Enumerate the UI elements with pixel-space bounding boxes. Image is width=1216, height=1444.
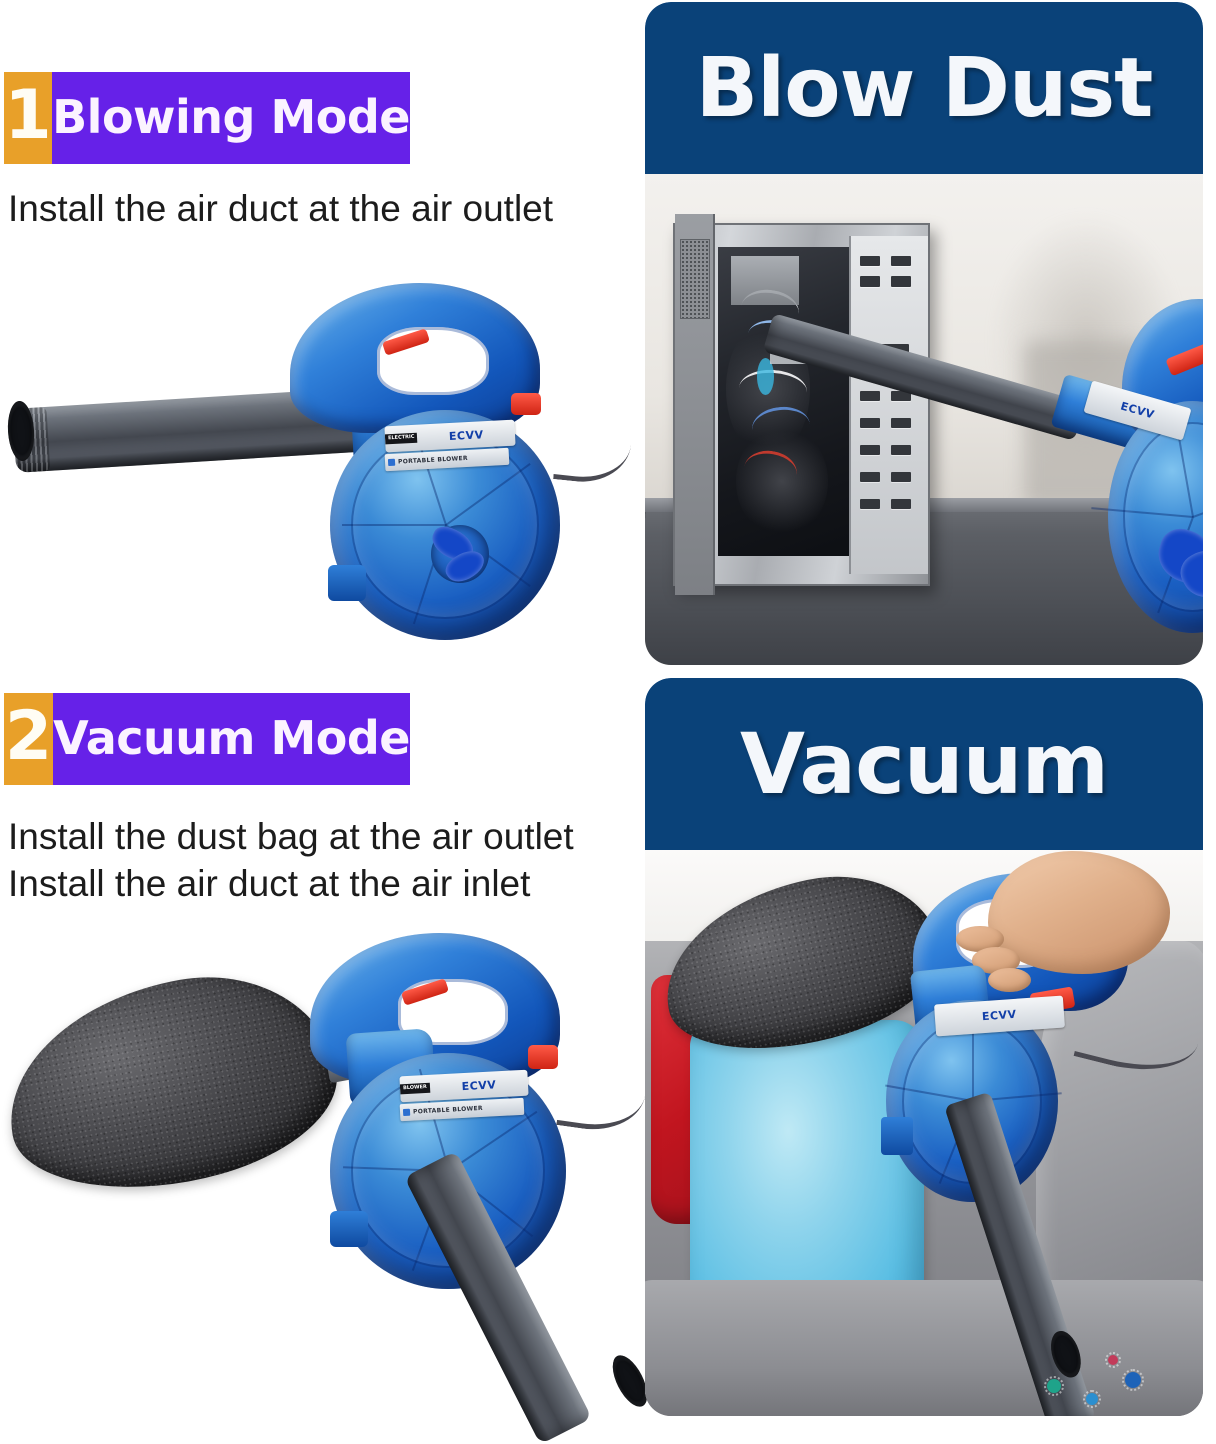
housing-foot — [881, 1117, 913, 1154]
fan-blade — [1174, 540, 1203, 605]
mode-title-badge-1: Blowing Mode — [52, 72, 410, 164]
germ-icon — [1125, 1372, 1141, 1388]
tower-vent-mesh — [680, 239, 710, 318]
blower-in-scene: ECVV — [656, 873, 1192, 1405]
expansion-slot — [860, 418, 880, 428]
mode-title-badge-2: Vacuum Mode — [53, 693, 410, 785]
banner-title: Vacuum — [740, 715, 1108, 813]
instruction-line: Install the air duct at the air inlet — [8, 860, 628, 907]
step-number-badge-1: 1 — [4, 72, 52, 164]
step-block-2: 2 Vacuum Mode Install the dust bag at th… — [0, 668, 645, 1418]
instruction-line: Install the dust bag at the air outlet — [8, 813, 628, 860]
motherboard-sticker — [731, 256, 799, 305]
housing-rib — [885, 1085, 973, 1102]
banner-vacuum: Vacuum — [645, 678, 1203, 850]
housing-rib — [1193, 481, 1203, 518]
banner-title: Blow Dust — [696, 41, 1153, 136]
label-chip-text: BLOWER — [400, 1083, 430, 1094]
germ-icon — [1086, 1393, 1098, 1405]
power-cord — [1074, 998, 1203, 1085]
power-cord — [556, 1065, 648, 1136]
brand-text: ECVV — [934, 1005, 1063, 1027]
expansion-slot — [891, 256, 911, 266]
power-cord — [553, 419, 633, 486]
photo-blow-dust-scene: ECVV — [645, 174, 1203, 665]
fan-blade — [427, 522, 479, 566]
housing-rib — [1091, 507, 1193, 518]
expansion-slot — [860, 391, 880, 401]
label-icon — [388, 459, 395, 466]
product-blower-blowing-mode: ELECTRIC ECVV PORTABLE BLOWER — [0, 275, 620, 635]
dust-bag — [0, 956, 351, 1210]
housing-rib — [342, 524, 446, 526]
label-icon — [403, 1109, 410, 1116]
housing-rib — [413, 525, 447, 625]
handle-opening — [377, 327, 489, 395]
fan-blade — [441, 543, 489, 587]
photo-vacuum-scene: ECVV — [645, 850, 1203, 1416]
step-number-badge-2: 2 — [4, 693, 53, 785]
expansion-slot — [860, 276, 880, 286]
label-chip-text: ELECTRIC — [385, 433, 418, 444]
housing-rib — [445, 463, 530, 526]
infographic-page: 1 Blowing Mode Install the air duct at t… — [0, 0, 1216, 1418]
speed-dial — [528, 1045, 558, 1069]
photo-panel-blow-dust: Blow Dust — [645, 2, 1203, 665]
blower-in-scene: ECVV — [879, 292, 1203, 655]
expansion-slot — [860, 256, 880, 266]
housing-foot — [330, 1211, 368, 1247]
speed-dial — [511, 393, 541, 415]
expansion-slot — [860, 499, 880, 509]
instructions-1: Install the air duct at the air outlet — [8, 185, 628, 232]
germ-icon — [1108, 1355, 1118, 1365]
mode-tag-1: 1 Blowing Mode — [4, 72, 410, 164]
housing-foot — [328, 565, 366, 601]
banner-blow-dust: Blow Dust — [645, 2, 1203, 174]
housing-rib — [1157, 517, 1194, 614]
instruction-line: Install the air duct at the air outlet — [8, 185, 628, 232]
fan-blade — [1152, 523, 1203, 589]
expansion-slot — [891, 276, 911, 286]
expansion-slot — [860, 472, 880, 482]
photo-panel-vacuum: Vacuum — [645, 678, 1203, 1416]
left-column: 1 Blowing Mode Install the air duct at t… — [0, 0, 645, 1418]
tower-interior — [718, 247, 849, 556]
step-block-1: 1 Blowing Mode Install the air duct at t… — [0, 0, 645, 668]
housing-rib — [445, 524, 530, 587]
label-strip-text: PORTABLE BLOWER — [398, 455, 468, 466]
brand-text: ECVV — [417, 426, 515, 444]
label-strip-text: PORTABLE BLOWER — [413, 1105, 483, 1116]
brand-text: ECVV — [430, 1076, 529, 1094]
fan-hub — [431, 525, 489, 583]
instructions-2: Install the dust bag at the air outlet I… — [8, 813, 628, 908]
mode-tag-2: 2 Vacuum Mode — [4, 693, 410, 785]
expansion-slot — [860, 445, 880, 455]
germ-icon — [1047, 1379, 1061, 1393]
product-blower-vacuum-mode: BLOWER ECVV PORTABLE BLOWER — [0, 923, 645, 1418]
